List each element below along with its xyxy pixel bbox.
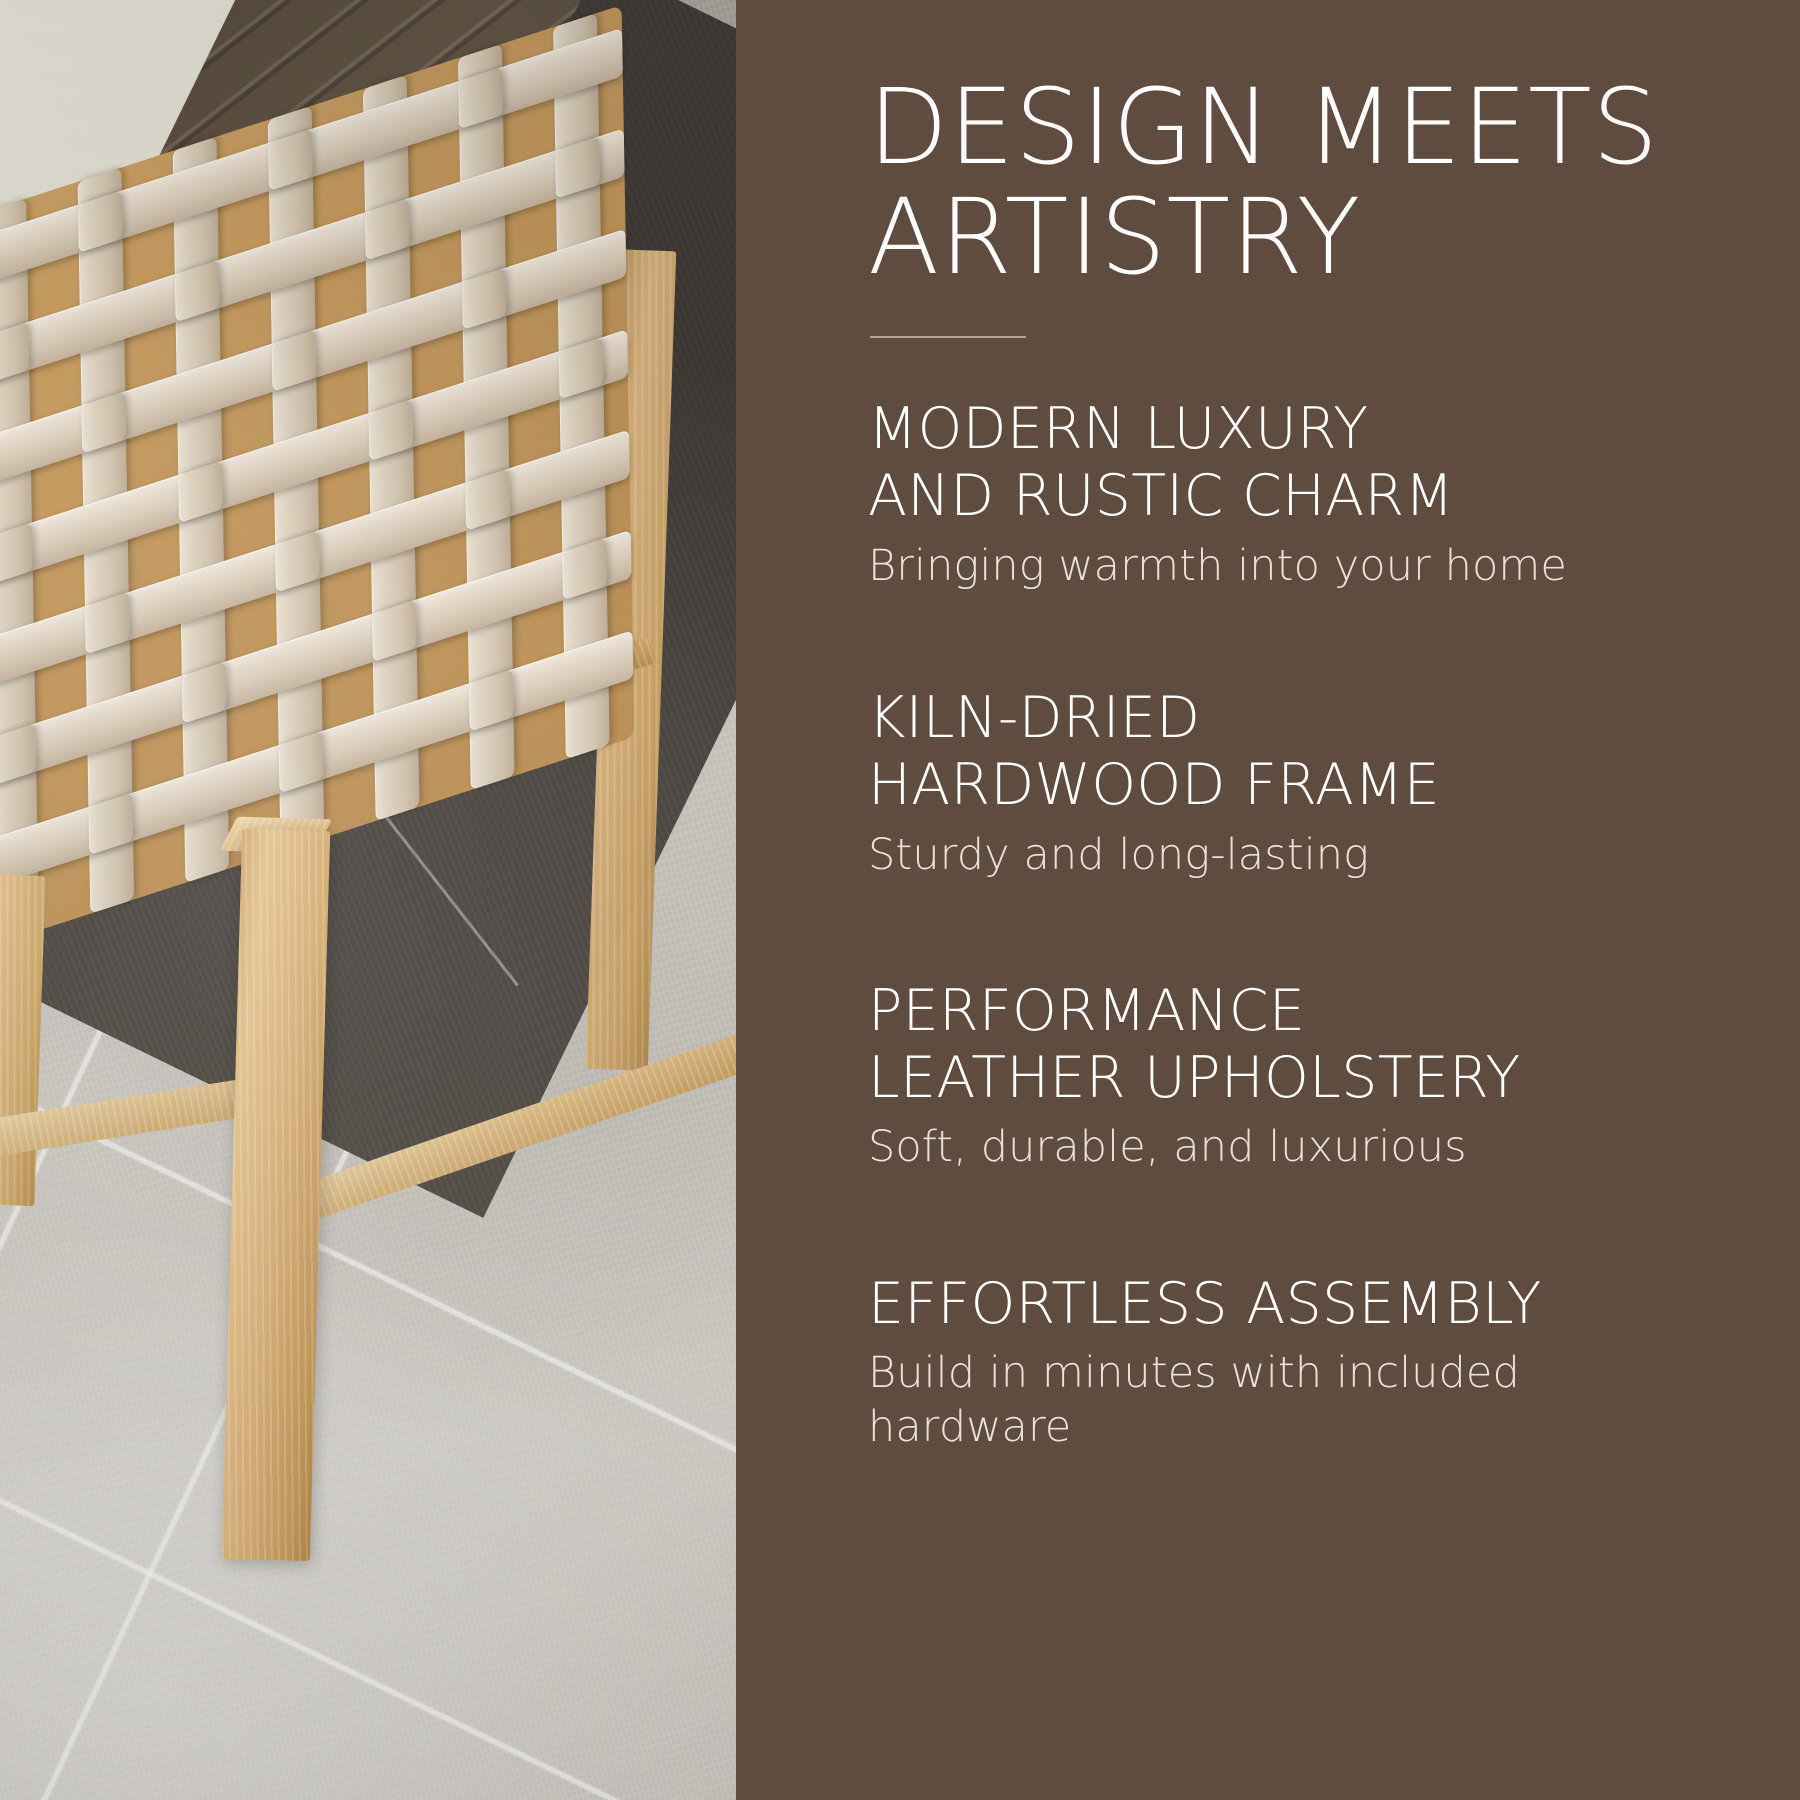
feature-subtitle: Bringing warmth into your home bbox=[868, 540, 1730, 593]
product-photo bbox=[0, 0, 736, 1800]
feature-title: PERFORMANCE LEATHER UPHOLSTERY bbox=[868, 978, 1730, 1111]
feature-item-modern-luxury: MODERN LUXURY AND RUSTIC CHARM Bringing … bbox=[868, 396, 1730, 593]
feature-item-performance-leather: PERFORMANCE LEATHER UPHOLSTERY Soft, dur… bbox=[868, 978, 1730, 1175]
feature-subtitle: Sturdy and long-lasting bbox=[868, 829, 1730, 882]
feature-title: EFFORTLESS ASSEMBLY bbox=[868, 1271, 1730, 1338]
feature-item-kiln-dried: KILN-DRIED HARDWOOD FRAME Sturdy and lon… bbox=[868, 685, 1730, 882]
feature-subtitle: Soft, durable, and luxurious bbox=[868, 1121, 1730, 1174]
product-feature-card: DESIGN MEETS ARTISTRY MODERN LUXURY AND … bbox=[0, 0, 1800, 1800]
feature-title: MODERN LUXURY AND RUSTIC CHARM bbox=[868, 396, 1730, 529]
title-divider bbox=[870, 336, 1026, 338]
copy-panel: DESIGN MEETS ARTISTRY MODERN LUXURY AND … bbox=[736, 0, 1800, 1800]
page-title: DESIGN MEETS ARTISTRY bbox=[868, 72, 1730, 292]
feature-subtitle: Build in minutes with included hardware bbox=[868, 1347, 1730, 1454]
feature-title: KILN-DRIED HARDWOOD FRAME bbox=[868, 685, 1730, 818]
feature-list: MODERN LUXURY AND RUSTIC CHARM Bringing … bbox=[868, 396, 1730, 1453]
feature-item-effortless-assembly: EFFORTLESS ASSEMBLY Build in minutes wit… bbox=[868, 1271, 1730, 1454]
